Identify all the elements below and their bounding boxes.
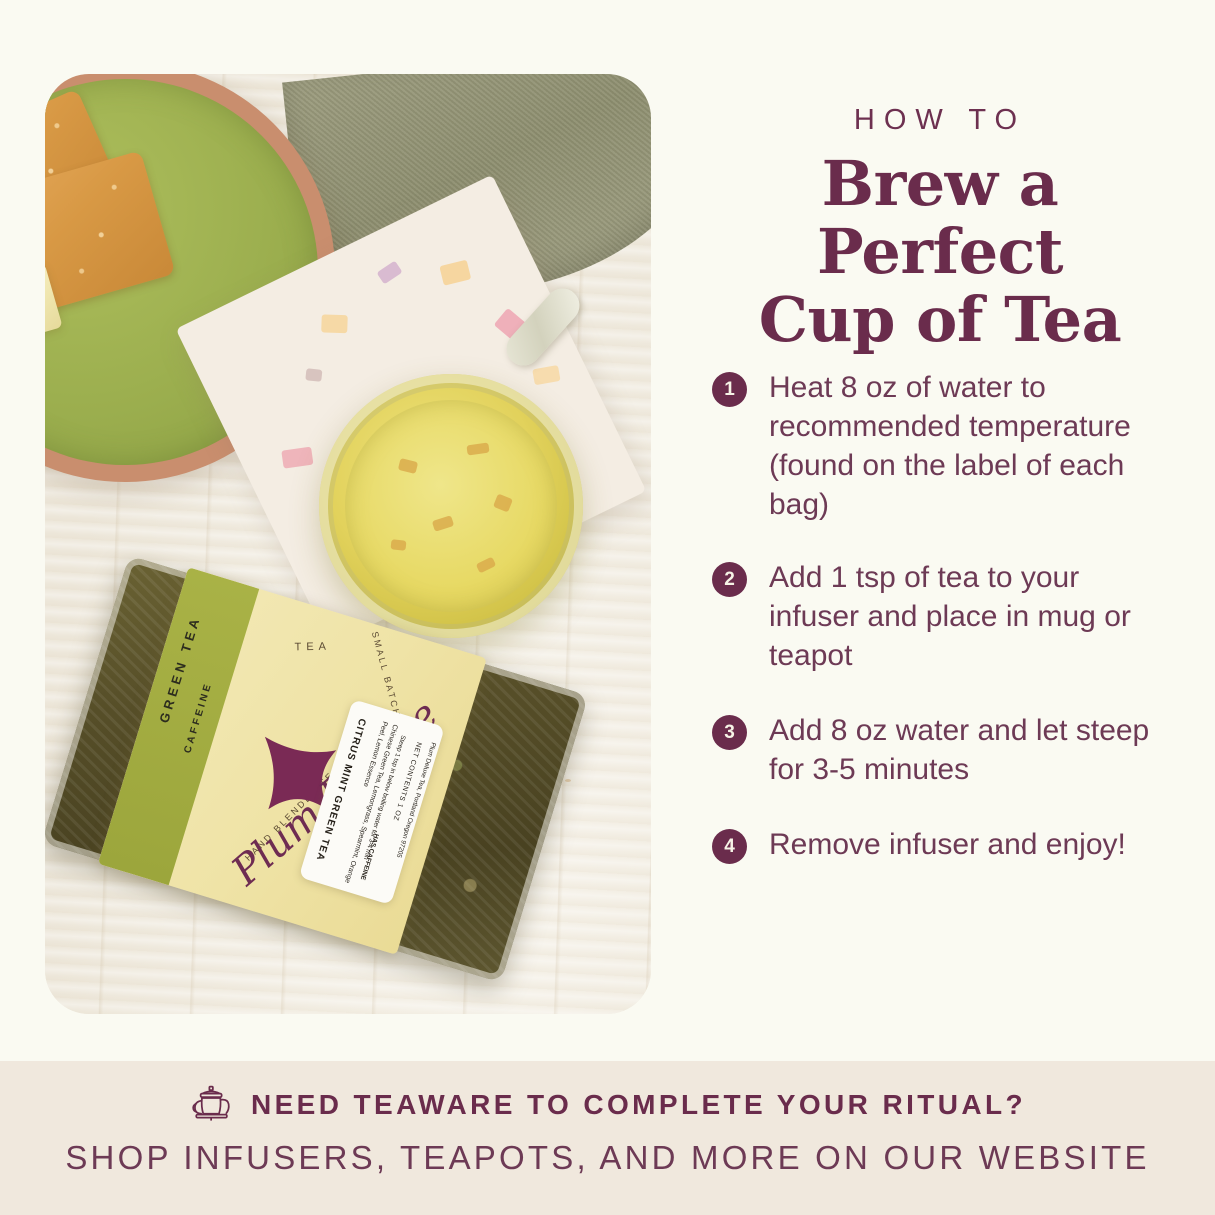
package-arc-top-text: TEA — [294, 641, 331, 654]
page-title: Brew a Perfect Cup of Tea — [690, 150, 1190, 355]
glass-teacup — [319, 374, 583, 638]
step-item: 1 Heat 8 oz of water to recommended temp… — [712, 368, 1190, 524]
footer-line-2: SHOP INFUSERS, TEAPOTS, AND MORE ON OUR … — [0, 1139, 1215, 1177]
kicker-label: HOW TO — [690, 104, 1190, 137]
footer-banner: NEED TEAWARE TO COMPLETE YOUR RITUAL? SH… — [0, 1061, 1215, 1215]
step-item: 4 Remove infuser and enjoy! — [712, 825, 1190, 864]
step-text: Remove infuser and enjoy! — [769, 825, 1126, 864]
tea-leaf-fleck — [466, 443, 489, 456]
step-text: Heat 8 oz of water to recommended temper… — [769, 368, 1154, 524]
footer-line-1: NEED TEAWARE TO COMPLETE YOUR RITUAL? — [251, 1089, 1026, 1121]
step-number-badge: 3 — [712, 715, 747, 750]
tea-leaf-fleck — [432, 515, 454, 532]
step-text: Add 8 oz water and let steep for 3-5 min… — [769, 711, 1169, 789]
teapot-icon — [189, 1084, 235, 1126]
footer-headline-row: NEED TEAWARE TO COMPLETE YOUR RITUAL? — [0, 1084, 1215, 1126]
step-number-badge: 4 — [712, 829, 747, 864]
step-item: 3 Add 8 oz water and let steep for 3-5 m… — [712, 711, 1190, 789]
terrazzo-chip — [439, 260, 471, 286]
tea-leaf-fleck — [493, 494, 513, 513]
title-line-1: Brew a Perfect — [817, 147, 1063, 288]
surface-speck — [565, 779, 571, 782]
terrazzo-chip — [321, 314, 348, 333]
step-number-badge: 1 — [712, 372, 747, 407]
terrazzo-chip — [532, 365, 560, 385]
step-item: 2 Add 1 tsp of tea to your infuser and p… — [712, 558, 1190, 675]
tea-leaf-fleck — [391, 539, 407, 551]
tea-leaf-fleck — [398, 458, 418, 474]
hero-photo: GREEN TEA CAFFEINE HAND BLENDED TEAS TEA… — [45, 74, 651, 1014]
terrazzo-chip — [281, 447, 313, 469]
step-text: Add 1 tsp of tea to your infuser and pla… — [769, 558, 1169, 675]
tea-surface — [345, 400, 557, 612]
tea-leaf-fleck — [476, 557, 497, 574]
package-caffeine-label: CAFFEINE — [182, 681, 214, 755]
steps-list: 1 Heat 8 oz of water to recommended temp… — [712, 368, 1190, 898]
title-line-2: Cup of Tea — [690, 286, 1190, 354]
instructions-panel: HOW TO Brew a Perfect Cup of Tea 1 Heat … — [690, 0, 1190, 1060]
step-number-badge: 2 — [712, 562, 747, 597]
terrazzo-chip — [305, 368, 322, 382]
infographic-page: GREEN TEA CAFFEINE HAND BLENDED TEAS TEA… — [0, 0, 1215, 1215]
terrazzo-chip — [377, 261, 403, 285]
